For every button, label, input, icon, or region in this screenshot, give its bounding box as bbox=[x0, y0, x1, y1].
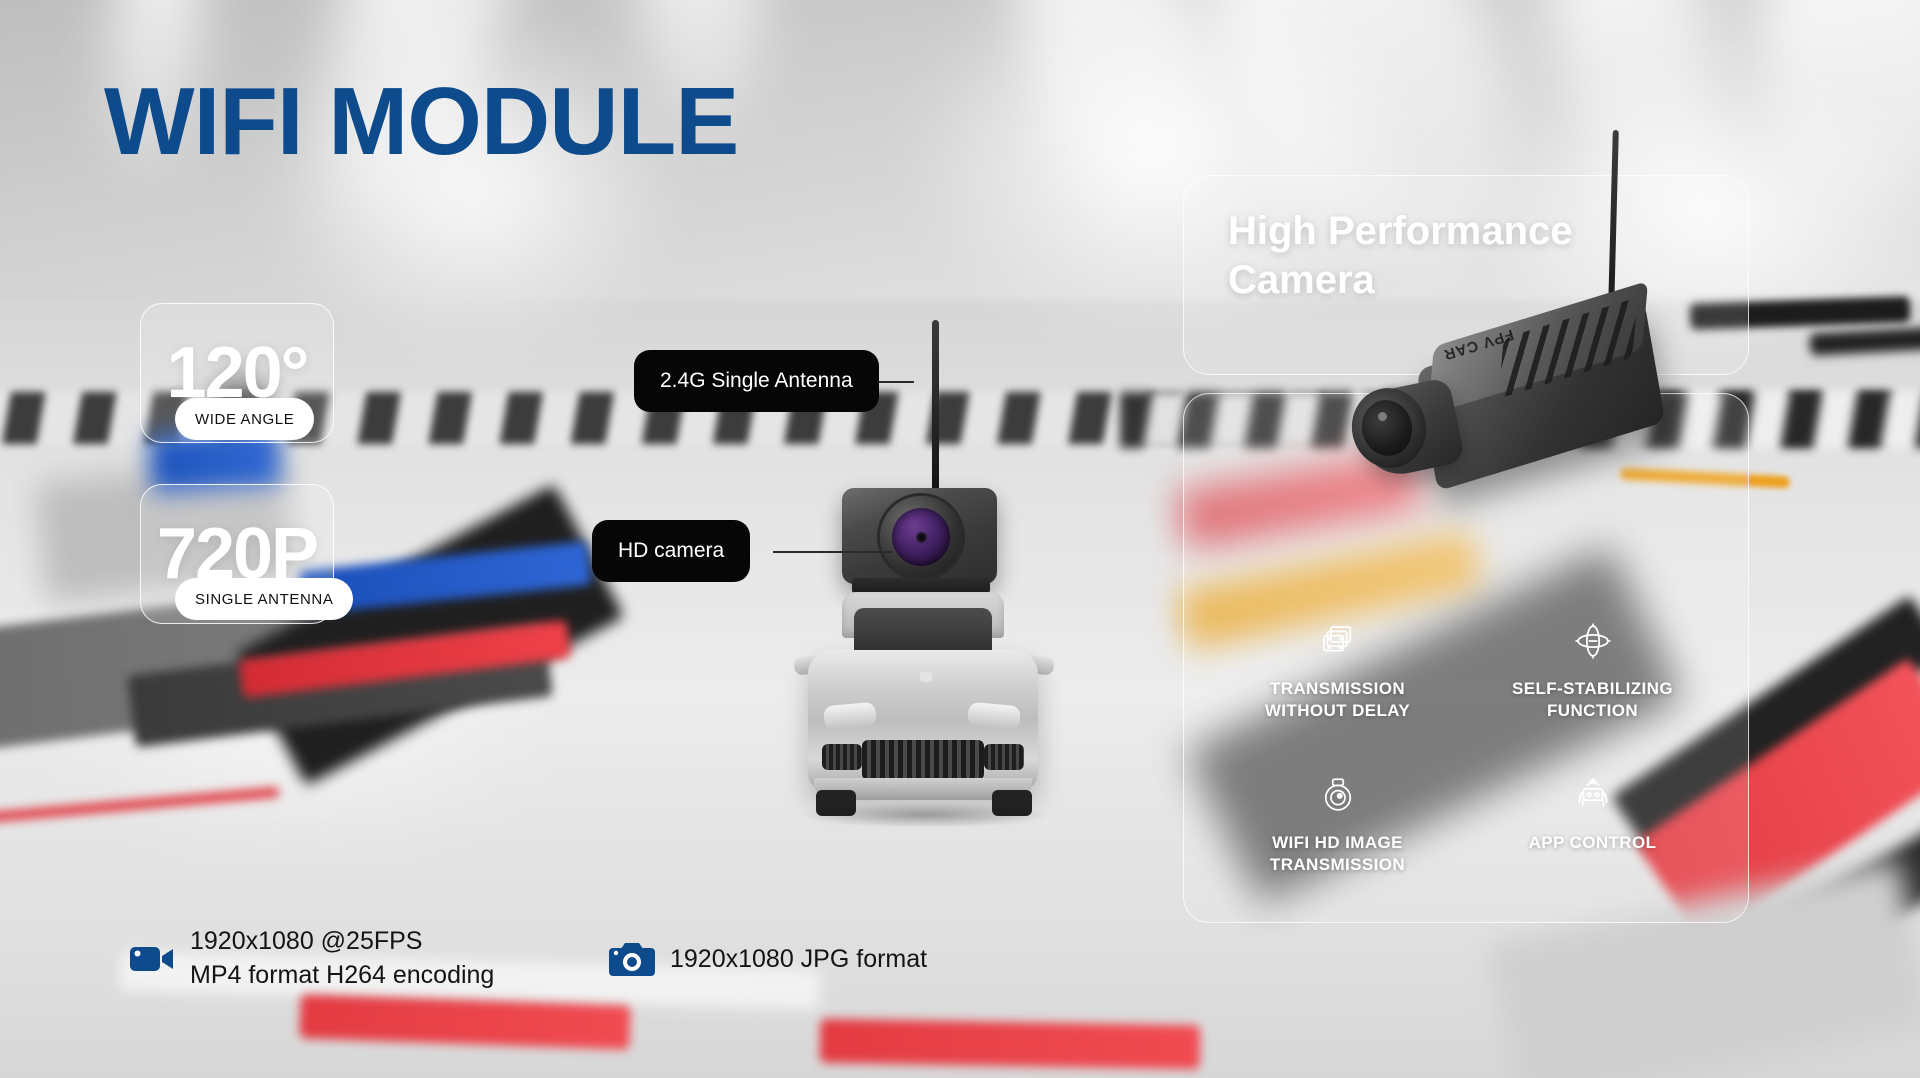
car-vent-left bbox=[822, 744, 862, 770]
antenna-rod bbox=[932, 320, 939, 500]
callout-hd-camera: HD camera bbox=[592, 520, 750, 582]
photo-camera-icon bbox=[608, 940, 656, 980]
car-headlight-left bbox=[823, 702, 877, 730]
wifi-camera-icon bbox=[1317, 774, 1359, 816]
feature-transmission-without-delay: TRANSMISSION WITHOUT DELAY bbox=[1215, 620, 1460, 756]
device-lens-highlight bbox=[1378, 412, 1387, 421]
car-grille bbox=[862, 740, 984, 780]
poster-canvas: WIFI MODULE 120° WIDE ANGLE 720P SINGLE … bbox=[0, 0, 1920, 1078]
product-device: FPV CAR bbox=[1330, 130, 1750, 550]
car-shadow bbox=[800, 802, 1050, 828]
spec-video: 1920x1080 @25FPS MP4 format H264 encodin… bbox=[128, 925, 494, 993]
car-headlight-right bbox=[967, 702, 1021, 730]
track-tape-red bbox=[820, 1019, 1201, 1070]
feature-grid: TRANSMISSION WITHOUT DELAY SELF-STABILIZ… bbox=[1215, 620, 1715, 910]
gyro-stabilizer-icon bbox=[1572, 620, 1614, 662]
car-vent-right bbox=[984, 744, 1024, 770]
feature-self-stabilizing-function: SELF-STABILIZING FUNCTION bbox=[1470, 620, 1715, 756]
feature-label: TRANSMISSION WITHOUT DELAY bbox=[1265, 678, 1410, 722]
callout-leader-line bbox=[773, 551, 893, 553]
feature-label: WIFI HD IMAGE TRANSMISSION bbox=[1270, 832, 1405, 876]
car-hood-badge bbox=[920, 672, 932, 682]
frames-stack-icon bbox=[1317, 620, 1359, 662]
remote-controller-icon bbox=[1572, 774, 1614, 816]
feature-label: APP CONTROL bbox=[1529, 832, 1657, 854]
spec-photo-text: 1920x1080 JPG format bbox=[670, 943, 927, 977]
spec-badge-single-antenna: SINGLE ANTENNA bbox=[175, 578, 353, 620]
spec-video-text: 1920x1080 @25FPS MP4 format H264 encodin… bbox=[190, 925, 494, 993]
callout-antenna: 2.4G Single Antenna bbox=[634, 350, 879, 412]
video-camera-icon bbox=[128, 939, 176, 979]
feature-wifi-hd-image-transmission: WIFI HD IMAGE TRANSMISSION bbox=[1215, 774, 1460, 910]
spec-photo: 1920x1080 JPG format bbox=[608, 940, 927, 980]
feature-app-control: APP CONTROL bbox=[1470, 774, 1715, 910]
spec-badge-wide-angle: WIDE ANGLE bbox=[175, 398, 314, 440]
page-title: WIFI MODULE bbox=[104, 74, 738, 170]
feature-label: SELF-STABILIZING FUNCTION bbox=[1512, 678, 1673, 722]
camera-lens-center bbox=[916, 532, 927, 543]
